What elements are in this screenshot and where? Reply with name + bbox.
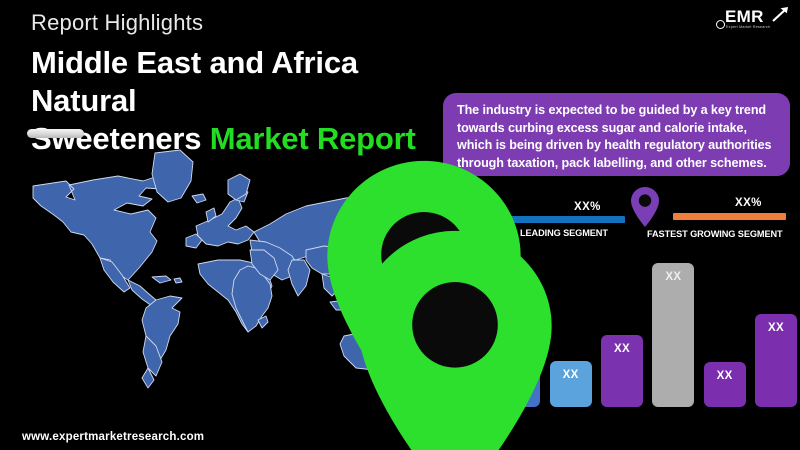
bar-label: XX [755,322,797,334]
logo-ring-icon [716,20,725,29]
fastest-growing-segment-meter [673,213,786,220]
logo-wordmark: EMR [725,7,764,27]
map-pin-icon [245,224,665,450]
page-title-line1: Middle East and Africa Natural [31,45,358,118]
bar-6: XX [704,362,746,407]
logo-tagline: Expert Market Research [726,25,770,29]
logo-arrow-icon [771,6,789,22]
emr-logo[interactable]: EMR Expert Market Research [711,6,789,36]
bar-label: XX [704,370,746,382]
title-underline-rule [27,129,84,138]
page-kicker: Report Highlights [31,10,203,36]
fastest-growing-segment-value: XX% [735,197,762,209]
world-map [0,140,420,430]
footer-url[interactable]: www.expertmarketresearch.com [22,431,204,443]
bar-7: XX [755,314,797,407]
map-pin-icon [630,186,660,228]
slide-canvas: Report Highlights Middle East and Africa… [0,0,800,450]
fastest-growing-segment-label: FASTEST GROWING SEGMENT [647,229,783,239]
